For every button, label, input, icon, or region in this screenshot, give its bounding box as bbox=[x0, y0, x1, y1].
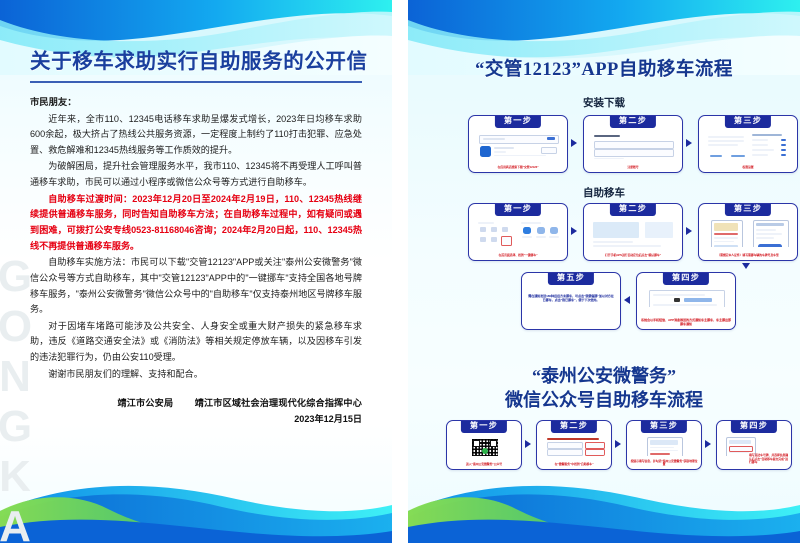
wechat-step-2-card[interactable]: 第二步 在“微警服务”中找到“自助移车” bbox=[536, 420, 612, 470]
screenshot-plate-entry bbox=[705, 219, 791, 247]
step-badge: 第一步 bbox=[495, 203, 541, 216]
letter-paragraph-6: 谢谢市民朋友们的理解、支持和配合。 bbox=[30, 367, 362, 383]
arrow-right-icon bbox=[686, 139, 692, 147]
step-badge: 第五步 bbox=[548, 272, 594, 285]
arrow-right-icon bbox=[686, 227, 692, 235]
title-divider bbox=[30, 81, 362, 83]
move-step-5-card[interactable]: 第五步 需在通知发送180种后后方未挪车，可点击“我要催挪”加以对方在已挪车，点… bbox=[521, 272, 621, 330]
step-badge: 第三步 bbox=[725, 203, 771, 216]
step-caption: 权限设置 bbox=[702, 166, 794, 170]
screenshot-app-store-search bbox=[475, 131, 561, 159]
letter-paragraph-5: 对于因堵车堵路可能涉及公共安全、人身安全或重大财产损失的紧急移车求助，违反《道路… bbox=[30, 319, 362, 366]
screenshot-wechat-service-menu bbox=[543, 436, 605, 456]
wechat-step-4-card[interactable]: 第四步 填写违法车号牌、并选择信息确认后点击“自助移车提交完成”进行挪车 bbox=[716, 420, 792, 470]
screenshot-form-fill bbox=[633, 436, 695, 456]
step-badge: 第四步 bbox=[663, 272, 709, 285]
letter-signature: 靖江市公安局 靖江市区域社会治理现代化综合指挥中心 2023年12月15日 bbox=[30, 396, 362, 428]
step-caption: 注册账号 bbox=[587, 166, 679, 170]
wechat-step-3-card[interactable]: 第三步 按提示填写信息，并勾选“泰州公安微警务”获取地理位置 bbox=[626, 420, 702, 470]
step-badge: 第三步 bbox=[725, 115, 771, 128]
step-badge: 第一步 bbox=[495, 115, 541, 128]
screenshot-sms-notification bbox=[643, 288, 729, 307]
signature-org-2: 靖江市区域社会治理现代化综合指挥中心 bbox=[195, 398, 362, 408]
step-caption: 填写违法车号牌、并选择信息确认后点击“自助移车提交完成”进行挪车 bbox=[749, 454, 789, 465]
step-caption: 需在通知发送180种后后方未挪车，可点击“我要催挪”加以对方在已挪车，点击“我已… bbox=[528, 295, 614, 303]
open-letter-body: 关于移车求助实行自助服务的公开信 市民朋友： 近年来，全市110、12345电话… bbox=[30, 44, 362, 428]
bottom-wave-decoration-right bbox=[408, 465, 800, 543]
screenshot-register-account bbox=[590, 131, 676, 159]
section-label-install: 安装下载 bbox=[408, 95, 800, 110]
flow-app-title: “交管12123”APP自助移车流程 bbox=[408, 55, 800, 81]
move-step-1-card[interactable]: 第一步 在首页面选择、找到“一键挪车” bbox=[468, 203, 568, 261]
letter-paragraph-3-highlight: 自助移车过渡时间：2023年12月20日至2024年2月19日，110、1234… bbox=[30, 192, 362, 255]
arrow-right-icon bbox=[705, 440, 711, 448]
step-badge: 第三步 bbox=[641, 420, 687, 433]
arrow-right-icon bbox=[571, 139, 577, 147]
left-panel-open-letter: GONGKAIXIN 关于移车求助实行自助服务的公开信 市民朋友： 近年来，全市… bbox=[0, 0, 392, 543]
step-badge: 第二步 bbox=[610, 115, 656, 128]
letter-salutation: 市民朋友： bbox=[30, 94, 362, 108]
screenshot-permission-settings bbox=[705, 131, 791, 159]
step-caption: 在首页面选择、找到“一键挪车” bbox=[472, 254, 564, 258]
section-label-self-move: 自助移车 bbox=[408, 185, 800, 200]
step-caption: 在应用商店搜索下载“交管12123” bbox=[472, 166, 564, 170]
flow-wechat-title-line1: “泰州公安微警务” bbox=[408, 364, 800, 388]
flow-wechat-title: “泰州公安微警务” 微信公众号自助移车流程 bbox=[408, 364, 800, 413]
arrow-down-icon bbox=[742, 263, 750, 269]
flow-wechat-title-line2: 微信公众号自助移车流程 bbox=[408, 388, 800, 412]
move-step-4-card[interactable]: 第四步 系统会以手机短信、APP消息推送的方式通知车主挪车，车主挪出即挪车通知 bbox=[636, 272, 736, 330]
step-caption: 进入“泰州公安微警务”公众号 bbox=[450, 463, 518, 467]
poster-canvas: GONGKAIXIN 关于移车求助实行自助服务的公开信 市民朋友： 近年来，全市… bbox=[0, 0, 800, 543]
arrow-left-icon bbox=[624, 296, 630, 304]
letter-paragraph-2: 为破解困局，提升社会管理服务水平，我市110、12345将不再受理人工呼叫普通移… bbox=[30, 159, 362, 190]
arrow-right-icon bbox=[615, 440, 621, 448]
step-badge: 第四步 bbox=[731, 420, 777, 433]
wechat-step-1-card[interactable]: 第一步 进入“泰州公安微警务”公众号 bbox=[446, 420, 522, 470]
step-caption: 系统会以手机短信、APP消息推送的方式通知车主挪车，车主挪出即挪车通知 bbox=[640, 319, 732, 327]
screenshot-qr-code bbox=[453, 436, 515, 456]
install-step-1-card[interactable]: 第一步 在应用商店搜索下载“交管12123” bbox=[468, 115, 568, 173]
step-badge: 第一步 bbox=[461, 420, 507, 433]
step-caption: 在“微警服务”中找到“自助移车” bbox=[540, 463, 608, 467]
letter-paragraph-4: 自助移车实施方法：市民可以下载"交管12123"APP或关注"泰州公安微警务"微… bbox=[30, 255, 362, 318]
page-title: 关于移车求助实行自助服务的公开信 bbox=[30, 44, 362, 74]
signature-org-1: 靖江市公安局 bbox=[117, 398, 173, 408]
step-caption: （需绑定本人证件）填写需挪车辆的车牌号及车型 bbox=[702, 254, 794, 258]
step-badge: 第二步 bbox=[551, 420, 597, 433]
move-step-3-card[interactable]: 第三步 （需绑定本人证件）填写需挪车辆的车牌号及车型 bbox=[698, 203, 798, 261]
screenshot-home-more-menu bbox=[475, 219, 561, 247]
bottom-wave-decoration bbox=[0, 465, 392, 543]
letter-paragraph-1: 近年来，全市110、12345电话移车求助呈爆发式增长，2023年日均移车求助6… bbox=[30, 112, 362, 159]
signature-date: 2023年12月15日 bbox=[30, 412, 362, 428]
arrow-right-icon bbox=[571, 227, 577, 235]
install-step-3-card[interactable]: 第三步 权限设置 bbox=[698, 115, 798, 173]
step-caption: 按提示填写信息，并勾选“泰州公安微警务”获取地理位置 bbox=[630, 460, 698, 467]
step-caption: 打开手机GPS进行自动定位后点击“确认挪车” bbox=[587, 254, 679, 258]
arrow-right-icon bbox=[525, 440, 531, 448]
screenshot-gps-confirm bbox=[590, 219, 676, 247]
right-panel-flowcharts: “交管12123”APP自助移车流程 安装下载 第一步 在应用商店搜索下载“交管… bbox=[408, 0, 800, 543]
step-badge: 第二步 bbox=[610, 203, 656, 216]
move-step-2-card[interactable]: 第二步 打开手机GPS进行自动定位后点击“确认挪车” bbox=[583, 203, 683, 261]
install-step-2-card[interactable]: 第二步 注册账号 bbox=[583, 115, 683, 173]
